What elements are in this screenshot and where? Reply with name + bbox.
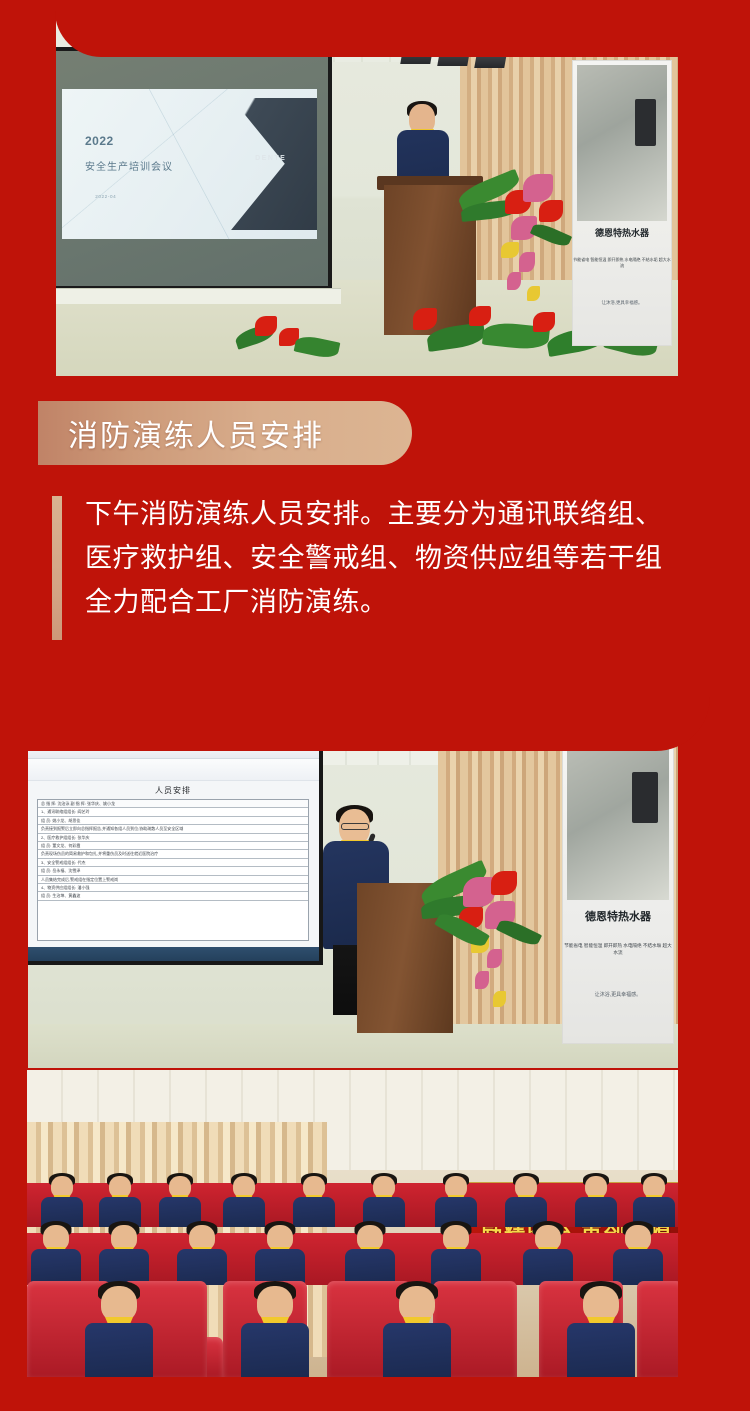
rollup-product-image bbox=[577, 65, 667, 221]
mid-red-overlay bbox=[0, 640, 710, 751]
glasses-icon bbox=[341, 823, 369, 830]
audience-photo: DENTE 励精图治 再创辉煌 bbox=[27, 1070, 678, 1377]
personnel-table: 总 指 挥: 沈治泳 副 指 挥: 张华庆、姚小龙 1、通讯联络组组长: 阎艺玲… bbox=[37, 799, 309, 941]
flower-arrangement bbox=[419, 867, 549, 1037]
rollup-title: 德恩特热水器 bbox=[563, 908, 673, 924]
table-row: 组 员: 董文龙、何彩霞 bbox=[38, 842, 308, 850]
table-row: 3、安全警戒组组长: 代杰 bbox=[38, 859, 308, 867]
table-row: 负责现场伤员的简易救护和包扎,并将重伤员及时送往就近医院治疗 bbox=[38, 850, 308, 858]
table-row: 4、物资供应组组长: 潘小强 bbox=[38, 884, 308, 892]
section-heading-banner: 消防演练人员安排 bbox=[38, 401, 412, 465]
table-row: 总 指 挥: 沈治泳 副 指 挥: 张华庆、姚小龙 bbox=[38, 800, 308, 808]
table-row: 负责接到报警后立即向总指挥报告,并通知各组人员到位;协助疏散人员至安全区域 bbox=[38, 825, 308, 833]
bottom-red-margin bbox=[0, 1377, 750, 1411]
auditorium-seating bbox=[27, 1162, 678, 1377]
rollup-features: 节能省电 智能恒温 即开即热 水电隔绝 不结水垢 超大水流 bbox=[573, 257, 671, 269]
presentation-slide: 2022 安全生产培训会议 2022-04 DENTE bbox=[62, 89, 317, 239]
rollup-features: 节能省电 智能恒温 即开即热 水电隔绝 不结水垢 超大水流 bbox=[563, 942, 673, 956]
page-title: 消防演练人员安排 bbox=[68, 411, 324, 455]
projection-screen-frame: 人员安排 总 指 挥: 沈治泳 副 指 挥: 张华庆、姚小龙 1、通讯联络组组长… bbox=[27, 745, 323, 965]
table-row: 1、通讯联络组组长: 阎艺玲 bbox=[38, 808, 308, 816]
product-rollup-banner: 德恩特热水器 节能省电 智能恒温 即开即热 水电隔绝 不结水垢 超大水流 让沐浴… bbox=[572, 60, 672, 346]
projection-screen-frame: 2022 安全生产培训会议 2022-04 DENTE bbox=[47, 47, 332, 290]
water-heater-unit bbox=[635, 99, 657, 146]
table-row: 2、医疗救护组组长: 张华庆 bbox=[38, 834, 308, 842]
projection-screen: 人员安排 总 指 挥: 沈治泳 副 指 挥: 张华庆、姚小龙 1、通讯联络组组长… bbox=[27, 749, 319, 961]
slide-date: 2022-04 bbox=[95, 194, 116, 199]
poster-page: 2022 安全生产培训会议 2022-04 DENTE bbox=[0, 0, 750, 1411]
body-paragraph: 下午消防演练人员安排。主要分为通讯联络组、医疗救护组、安全警戒组、物资供应组等若… bbox=[85, 492, 685, 624]
top-red-overlay bbox=[55, 0, 750, 57]
left-red-margin bbox=[0, 0, 56, 400]
right-red-margin bbox=[678, 0, 750, 400]
table-row: 人员集结完成后,警戒组在指定位置上警戒岗 bbox=[38, 876, 308, 884]
product-rollup-banner: 德恩特热水器 节能省电 智能恒温 即开即热 水电隔绝 不结水垢 超大水流 让沐浴… bbox=[562, 735, 674, 1044]
document-app-ribbon bbox=[27, 759, 319, 781]
projection-screen: 2022 安全生产培训会议 2022-04 DENTE bbox=[51, 51, 328, 286]
slide-title: 安全生产培训会议 bbox=[85, 158, 173, 173]
rollup-slogan: 让沐浴,更具幸福感。 bbox=[563, 991, 673, 998]
table-row: 组 员: 生治坤、黄鑫波 bbox=[38, 892, 308, 900]
document-title: 人员安排 bbox=[27, 785, 319, 796]
slide-brand-logo: DENTE bbox=[255, 155, 286, 162]
slide-year: 2022 bbox=[85, 134, 114, 148]
os-taskbar bbox=[27, 947, 319, 961]
rollup-slogan: 让沐浴,更具幸福感。 bbox=[573, 300, 671, 306]
table-row: 组 员: 岳永福、沈雪泽 bbox=[38, 867, 308, 875]
water-heater-unit bbox=[632, 772, 658, 823]
rollup-product-image bbox=[567, 740, 669, 900]
table-row: 组 员: 姚小龙、胡思佳 bbox=[38, 817, 308, 825]
rollup-title: 德恩特热水器 bbox=[573, 226, 671, 239]
